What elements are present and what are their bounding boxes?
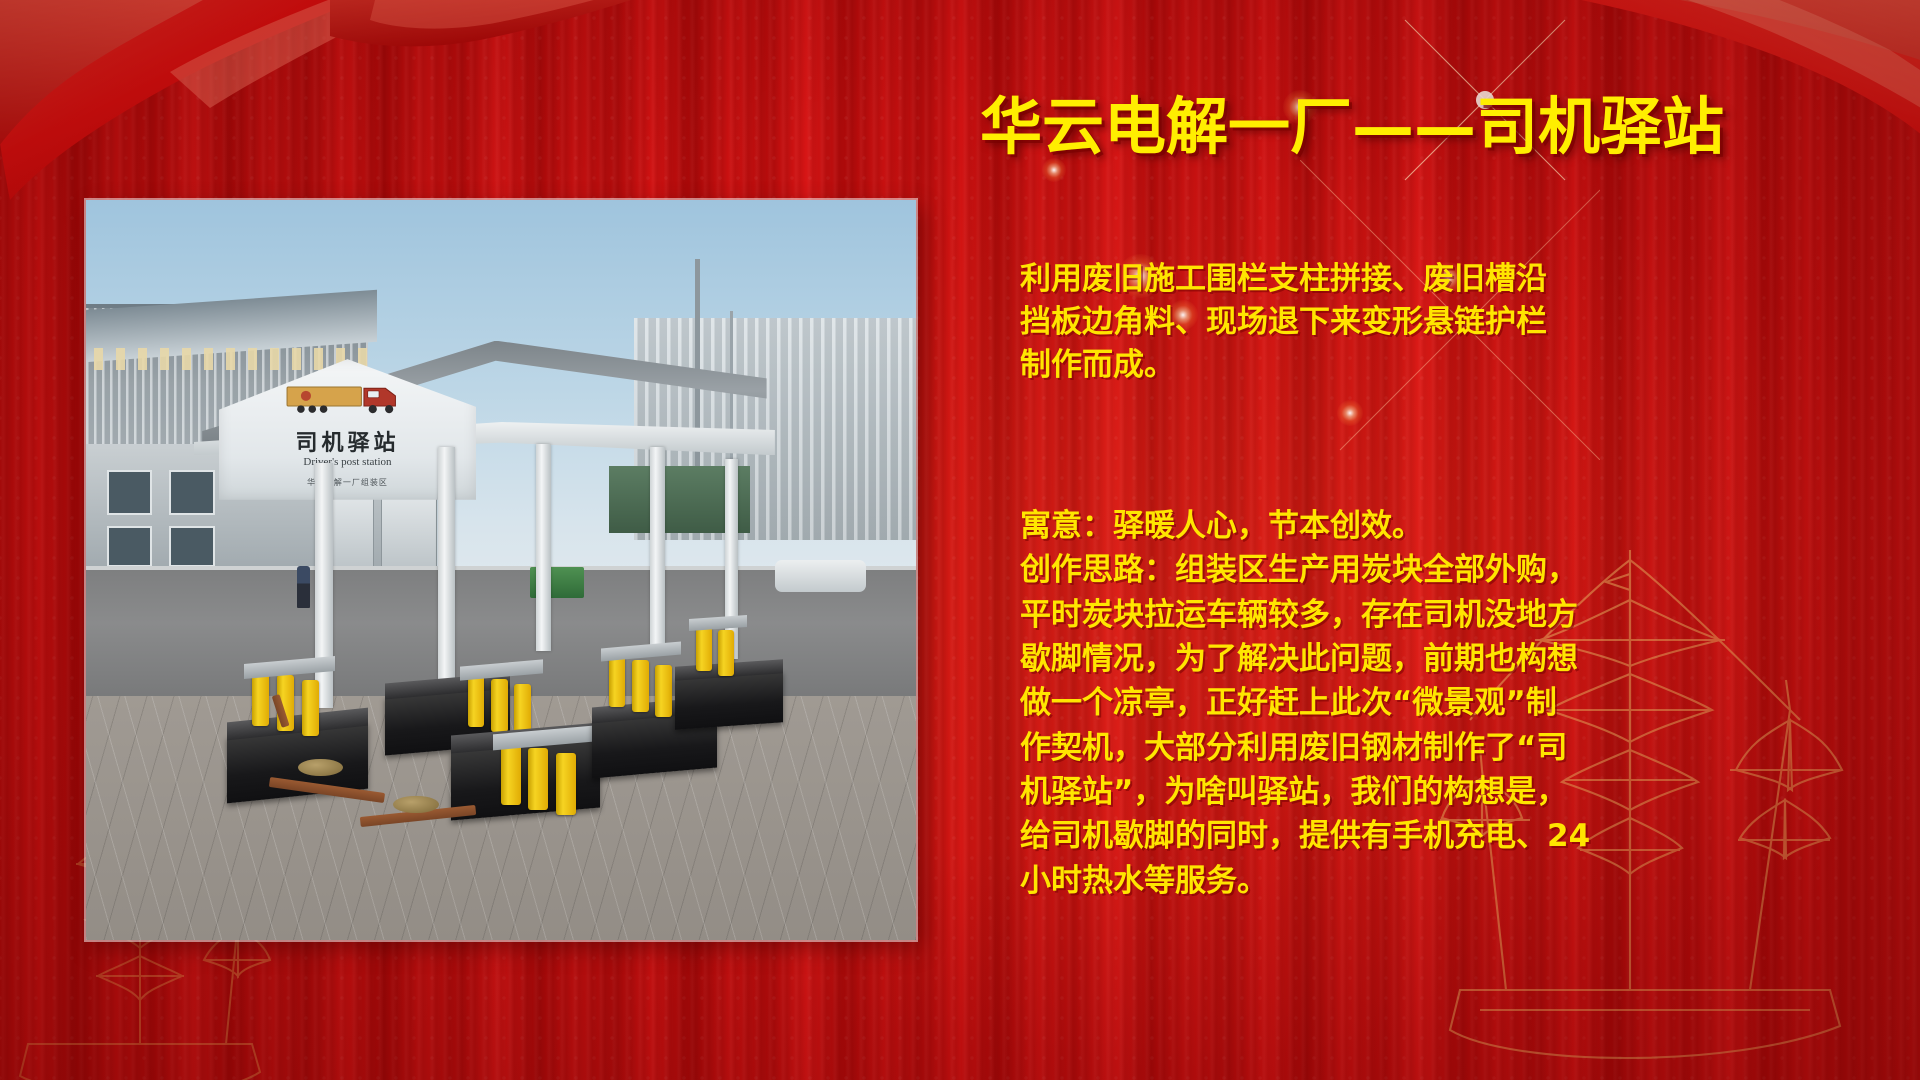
- sparkle-icon: [1337, 400, 1363, 426]
- paragraph-line: 小时热水等服务。: [1020, 859, 1760, 903]
- paragraph-line: 作契机，大部分利用废旧钢材制作了“司: [1020, 726, 1760, 770]
- paragraph-line: 制作而成。: [1020, 344, 1760, 387]
- paragraph-line: 利用废旧施工围栏支柱拼接、废旧槽沿: [1020, 258, 1760, 301]
- photo-window: [107, 526, 153, 567]
- photo-pavilion-post: [725, 459, 738, 659]
- photo-sign-subtitle: Driver's post station: [240, 456, 456, 468]
- description-paragraph: 利用废旧施工围栏支柱拼接、废旧槽沿 挡板边角料、现场退下来变形悬链护栏 制作而成…: [1020, 258, 1760, 386]
- paragraph-line: 做一个凉亭，正好赶上此次“微景观”制: [1020, 681, 1760, 725]
- paragraph-line: 歇脚情况，为了解决此问题，前期也构想: [1020, 637, 1760, 681]
- truck-icon: [277, 382, 418, 416]
- concept-paragraph: 寓意：驿暖人心，节本创效。 创作思路：组装区生产用炭块全部外购， 平时炭块拉运车…: [1020, 504, 1760, 903]
- photo-yellow-bollard: [468, 674, 485, 727]
- photo-yellow-bollard: [501, 742, 521, 804]
- photo-yellow-bollard: [655, 665, 672, 717]
- paragraph-line: 给司机歇脚的同时，提供有手机充电、24: [1020, 814, 1760, 858]
- photo-yellow-bollard: [632, 660, 649, 712]
- slide-canvas: 司机驿站 Driver's post station 华云电解一厂组装区: [0, 0, 1920, 1080]
- photo-roof-lights: [94, 348, 368, 370]
- ribbon-drape-left-icon: [0, 0, 490, 220]
- photo-yellow-bollard: [252, 670, 269, 726]
- photo-yellow-bollard: [528, 748, 548, 810]
- photo-yellow-bollard: [556, 753, 576, 815]
- paragraph-line: 机驿站”，为啥叫驿站，我们的构想是，: [1020, 770, 1760, 814]
- photo-window: [169, 526, 215, 567]
- photo-window: [169, 470, 215, 515]
- driver-post-station-photo: 司机驿站 Driver's post station 华云电解一厂组装区: [86, 200, 916, 940]
- photo-frame: 司机驿站 Driver's post station 华云电解一厂组装区: [86, 200, 916, 940]
- photo-sign-org: 华云电解一厂组装区: [240, 477, 456, 488]
- photo-round-stool: [393, 796, 439, 814]
- photo-window: [107, 470, 153, 515]
- photo-pavilion-post: [536, 444, 551, 651]
- photo-yellow-bollard: [491, 679, 508, 732]
- photo-pavilion-post: [438, 447, 455, 691]
- photo-yellow-bollard: [302, 680, 319, 736]
- paragraph-line: 创作思路：组装区生产用炭块全部外购，: [1020, 548, 1760, 592]
- photo-pavilion-post: [650, 447, 665, 647]
- paragraph-line: 平时炭块拉运车辆较多，存在司机没地方: [1020, 593, 1760, 637]
- paragraph-line: 寓意：驿暖人心，节本创效。: [1020, 504, 1760, 548]
- photo-yellow-bollard: [609, 655, 626, 707]
- photo-tanker-truck: [775, 560, 866, 593]
- photo-yellow-bollard: [696, 626, 712, 672]
- photo-person: [297, 566, 310, 607]
- ribbon-drape-middle-icon: [330, 0, 750, 60]
- paragraph-line: 挡板边角料、现场退下来变形悬链护栏: [1020, 301, 1760, 344]
- page-title: 华云电解一厂——司机驿站: [980, 96, 1900, 158]
- photo-sign-title: 司机驿站: [240, 425, 456, 457]
- photo-yellow-bollard: [718, 630, 734, 676]
